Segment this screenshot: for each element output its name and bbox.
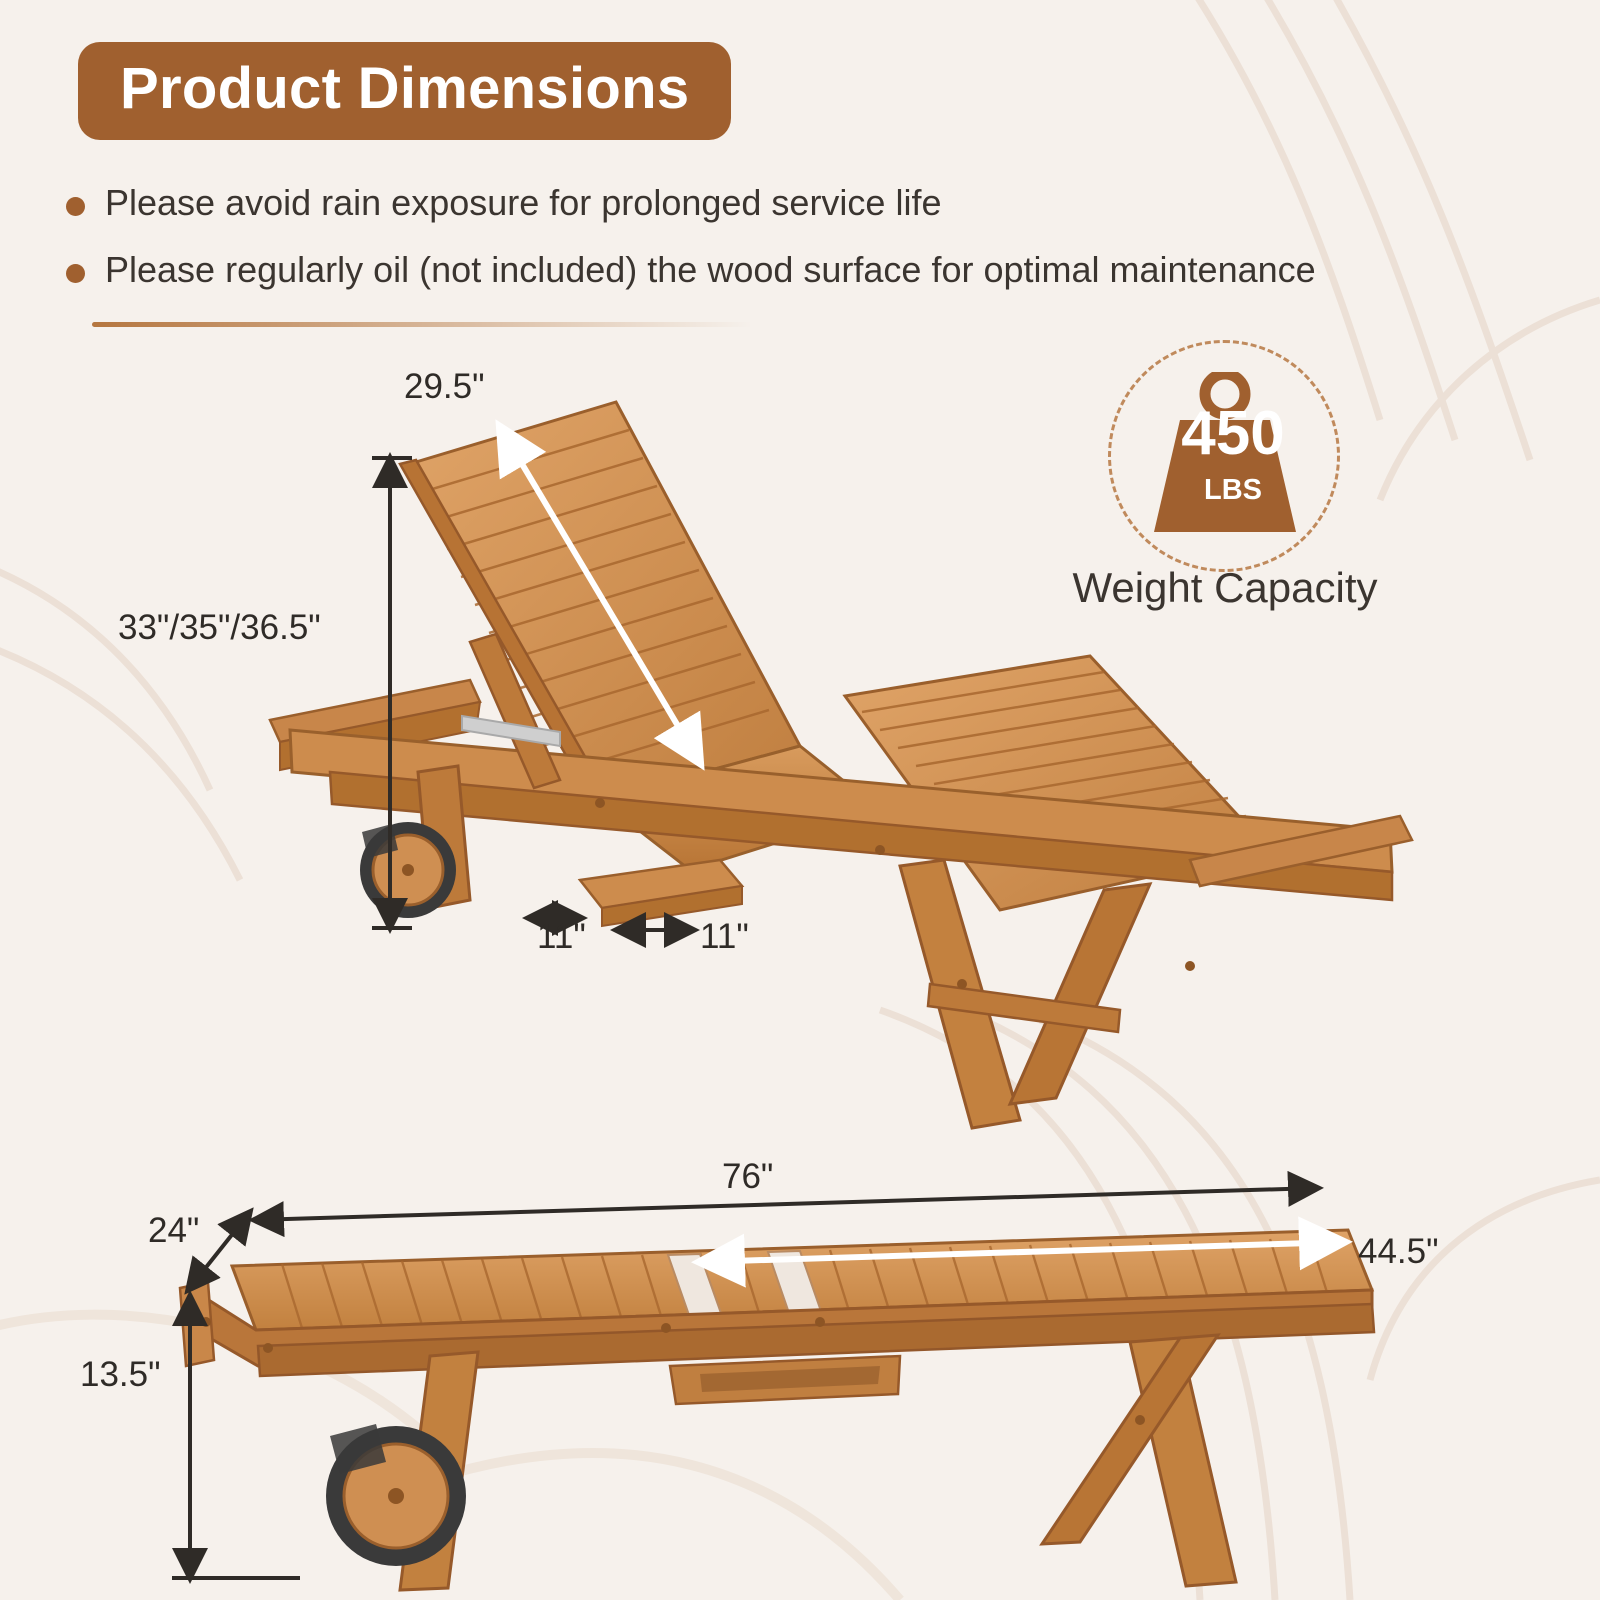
bullet-dot-icon	[66, 197, 85, 216]
bullet-text: Please regularly oil (not included) the …	[105, 250, 1316, 290]
dimension-label-tray-left: 11"	[537, 917, 586, 957]
dimension-label-backrest-length: 29.5"	[404, 367, 485, 407]
dimension-label-backrest-height: 33"/35"/36.5"	[118, 608, 321, 648]
dimension-label-width: 24"	[148, 1211, 199, 1251]
dimension-label-height: 13.5"	[80, 1355, 161, 1395]
page-title: Product Dimensions	[78, 42, 731, 140]
dimension-label-tray-right: 11"	[700, 917, 749, 957]
dimension-label-seat-section: 44.5"	[1358, 1232, 1439, 1272]
bullet-text: Please avoid rain exposure for prolonged…	[105, 183, 941, 223]
dimension-arrows-top	[0, 380, 1600, 1140]
bullet-item: Please regularly oil (not included) the …	[66, 250, 1316, 290]
bullet-item: Please avoid rain exposure for prolonged…	[66, 183, 941, 223]
dimension-label-total-length: 76"	[722, 1157, 773, 1197]
bullet-dot-icon	[66, 264, 85, 283]
divider	[92, 322, 752, 327]
